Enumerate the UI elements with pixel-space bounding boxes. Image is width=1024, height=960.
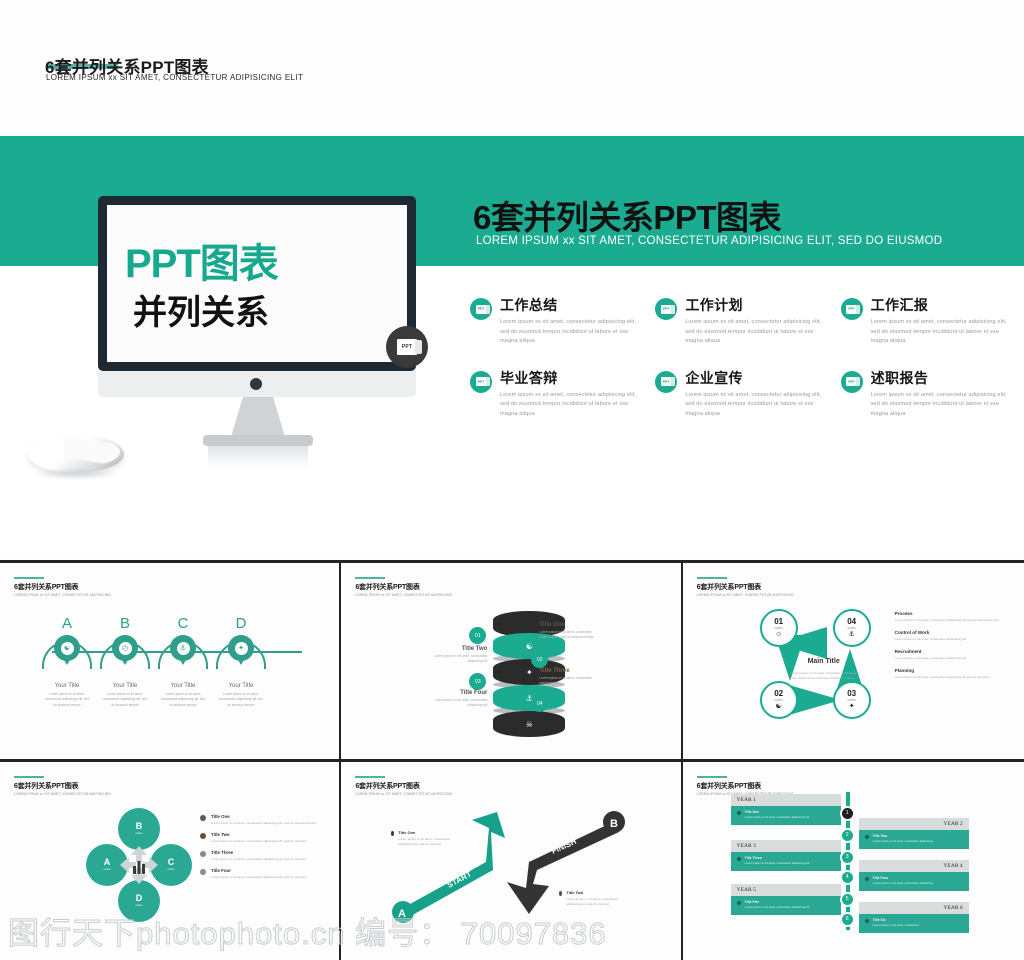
list-item: Title Four Lorem ipsum xx sit amet, cons… xyxy=(200,868,320,880)
slide-title: 6套并列关系PPT图表 xyxy=(697,781,761,791)
year-desc: Lorem ipsum xx sit amet, consectetur adi… xyxy=(745,815,810,819)
list-item-title: Title One xyxy=(211,814,316,819)
timeline-node-2: 2 xyxy=(840,828,855,843)
bullet-dot xyxy=(200,815,206,821)
pinwheel-node-03: 03 option ✦ xyxy=(833,681,871,719)
slide-thumb-1[interactable]: 6套并列关系PPT图表 LOREM IPSUM xx SIT AMET, CON… xyxy=(0,563,341,762)
note-desc: Lorem ipsum xx sit amet, consectetur adi… xyxy=(398,837,453,847)
list-item-desc: Lorem ipsum xx sit amet, consectetur adi… xyxy=(895,675,1000,680)
list-item-title: Recruitment xyxy=(895,649,1000,654)
bar-chart-icon xyxy=(114,840,164,890)
petal-label: value xyxy=(103,867,110,872)
bullet-dot xyxy=(737,901,741,905)
slide-title: 6套并列关系PPT图表 xyxy=(14,582,78,592)
note-title: Title Two xyxy=(566,890,621,895)
note-left: Title One Lorem ipsum xx sit amet, conse… xyxy=(391,830,453,847)
start-finish-arrow-graphic: A START B FINISH xyxy=(341,762,679,952)
year-card-4: YEAR 4 Title Four Lorem ipsum xx sit ame… xyxy=(859,860,969,891)
ppt-file-icon: PPT xyxy=(655,298,677,320)
slide-thumbnail-grid: 6套并列关系PPT图表 LOREM IPSUM xx SIT AMET, CON… xyxy=(0,560,1024,960)
pinwheel-node-01: 01 option ☺ xyxy=(760,609,798,647)
petal-letter: C xyxy=(168,857,175,867)
ppt-file-icon: PPT xyxy=(841,371,863,393)
feature-desc: Lorem ipsum xx sit amet, consectetur adi… xyxy=(685,318,826,347)
pin-letter: C xyxy=(155,615,211,633)
lightbulb-icon: ☯ xyxy=(54,635,80,661)
slide-thumb-5[interactable]: 6套并列关系PPT图表 LOREM IPSUM xx SIT AMET, CON… xyxy=(341,762,682,960)
lightbulb-icon: ☯ xyxy=(776,703,782,711)
bullet-dot xyxy=(559,891,562,896)
poster-page: 6套并列关系PPT图表 LOREM IPSUM xx SIT AMET, CON… xyxy=(0,0,1024,960)
year-desc: Lorem ipsum xx sit amet, consectetur adi… xyxy=(745,905,810,909)
feature-title: 工作计划 xyxy=(685,296,826,314)
list-item-title: Title Two xyxy=(211,832,306,837)
slide-subtitle: LOREM IPSUM xx SIT AMET, CONSECTETUR ADI… xyxy=(14,792,111,796)
list-item-desc: Lorem ipsum xx sit amet, consectetur adi… xyxy=(895,618,1000,623)
feature-item: PPT 毕业答辩 Lorem ipsum xx sit amet, consec… xyxy=(470,369,655,420)
list-item: Process Lorem ipsum xx sit amet, consect… xyxy=(895,611,1000,623)
year-title: Title Three xyxy=(745,856,810,860)
note-desc: Lorem ipsum xx sit amet, consectetur adi… xyxy=(566,897,621,907)
pin-caption: Your Title xyxy=(213,683,269,689)
slide-thumb-6[interactable]: 6套并列关系PPT图表 LOREM IPSUM xx SIT AMET, CON… xyxy=(683,762,1024,960)
main-title: Main Title xyxy=(808,658,840,665)
cylinder-desc: Lorem ipsum xx sit amet, consectetur adi… xyxy=(539,676,601,686)
anchor-icon: ⚓ xyxy=(170,635,196,661)
petal-label: value xyxy=(167,867,174,872)
users-icon: ☺ xyxy=(775,631,782,639)
timeline-node-5: 5 xyxy=(840,892,855,907)
timeline-node-6: 6 xyxy=(840,912,855,927)
bullet-dot xyxy=(865,919,869,923)
list-item-desc: Lorem ipsum xx sit amet, consectetur adi… xyxy=(895,656,1000,661)
monitor-mockup: PPT图表 并列关系 PPT xyxy=(98,196,416,391)
pinwheel-center-label: Main Title Lorem ipsum xx sit amet, cons… xyxy=(791,650,857,681)
list-item-title: Planning xyxy=(895,668,1000,673)
petal-label: value xyxy=(135,903,142,908)
bullet-dot xyxy=(737,857,741,861)
cylinder-label-3: Title Three Lorem ipsum xx sit amet, con… xyxy=(539,667,601,686)
year-card-2: YEAR 2 Title Two Lorem ipsum xx sit amet… xyxy=(859,818,969,849)
monitor-stand-base xyxy=(203,435,313,446)
pin-desc: Lorem ipsum xx sit amet, consectetur adi… xyxy=(213,692,269,708)
year-card-6: YEAR 6 Title Six Lorem ipsum xx sit amet… xyxy=(859,902,969,933)
monitor-indicator-dot xyxy=(250,378,262,390)
list-item-desc: Lorem ipsum xx sit amet, consectetur adi… xyxy=(895,637,1000,642)
feature-title: 工作总结 xyxy=(500,296,641,314)
anchor-icon: ⚓ xyxy=(849,631,855,639)
feature-grid: PPT 工作总结 Lorem ipsum xx sit amet, consec… xyxy=(470,296,1024,419)
list-item-desc: Lorem ipsum xx sit amet, consectetur adi… xyxy=(211,875,306,880)
bullet-dot xyxy=(391,831,394,836)
ppt-file-icon: PPT xyxy=(470,371,492,393)
gear-icon: ✦ xyxy=(228,635,254,661)
year-label: YEAR 3 xyxy=(731,840,841,852)
petal-letter: D xyxy=(136,893,143,903)
timeline-node-4: 4 xyxy=(840,870,855,885)
pin-desc: Lorem ipsum xx sit amet, consectetur adi… xyxy=(97,692,153,708)
feature-item: PPT 工作汇报 Lorem ipsum xx sit amet, consec… xyxy=(841,296,1024,347)
ppt-file-icon: PPT xyxy=(470,298,492,320)
slide-title: 6套并列关系PPT图表 xyxy=(697,582,761,592)
cylinder-number-badge: 03 xyxy=(469,673,486,690)
slide-accent-rule xyxy=(14,776,44,778)
monitor-screen: PPT图表 并列关系 xyxy=(107,205,407,362)
pin-item: C ⚓ Your Title Lorem ipsum xx sit amet, … xyxy=(155,615,211,708)
list-item-title: Control of Work xyxy=(895,630,1000,635)
list-item: Title One Lorem ipsum xx sit amet, conse… xyxy=(200,814,320,826)
list-item-desc: Lorem ipsum xx sit amet, consectetur adi… xyxy=(211,821,316,826)
list-item: Recruitment Lorem ipsum xx sit amet, con… xyxy=(895,649,1000,661)
note-right: Title Two Lorem ipsum xx sit amet, conse… xyxy=(559,890,621,907)
ppt-badge-icon: PPT xyxy=(386,326,428,368)
feature-desc: Lorem ipsum xx sit amet, consectetur adi… xyxy=(685,391,826,420)
pin-item: A ☯ Your Title Lorem ipsum xx sit amet, … xyxy=(39,615,95,708)
year-desc: Lorem ipsum xx sit amet, consectetur adi… xyxy=(873,839,933,843)
slide-accent-rule xyxy=(355,577,385,579)
ppt-file-icon: PPT xyxy=(841,298,863,320)
pin-desc: Lorem ipsum xx sit amet, consectetur adi… xyxy=(39,692,95,708)
pin-caption: Your Title xyxy=(97,683,153,689)
cylinder-title: Title Three xyxy=(539,669,601,674)
cylinder-desc: Lorem ipsum xx sit amet, consectetur adi… xyxy=(539,630,603,640)
list-item-desc: Lorem ipsum xx sit amet, consectetur adi… xyxy=(211,857,306,862)
slide-subtitle: LOREM IPSUM xx SIT AMET, CONSECTETUR ADI… xyxy=(14,593,111,597)
year-title: Title Six xyxy=(873,918,919,922)
list-item-title: Title Three xyxy=(211,850,306,855)
mouse-shadow xyxy=(30,468,122,480)
year-title: Title One xyxy=(745,810,810,814)
feature-title: 企业宣传 xyxy=(685,369,826,387)
timeline-node-1: 1 xyxy=(840,806,855,821)
list-item: Planning Lorem ipsum xx sit amet, consec… xyxy=(895,668,1000,680)
timeline-node-3: 3 xyxy=(840,850,855,865)
feature-desc: Lorem ipsum xx sit amet, consectetur adi… xyxy=(500,318,641,347)
year-label: YEAR 5 xyxy=(731,884,841,896)
page-subtitle: LOREM IPSUM xx SIT AMET, CONSECTETUR ADI… xyxy=(46,72,666,84)
cylinder-number-badge: 01 xyxy=(469,627,486,644)
list-item: Control of Work Lorem ipsum xx sit amet,… xyxy=(895,630,1000,642)
year-label: YEAR 6 xyxy=(859,902,969,914)
year-card-1: YEAR 1 Title One Lorem ipsum xx sit amet… xyxy=(731,794,841,825)
svg-text:A: A xyxy=(398,908,406,920)
pin-item: D ✦ Your Title Lorem ipsum xx sit amet, … xyxy=(213,615,269,708)
cylinder-desc: Lorem ipsum xx sit amet, consectetur adi… xyxy=(429,698,487,708)
cylinder-title: Title Four xyxy=(429,691,487,696)
bullet-dot xyxy=(200,851,206,857)
top-header: 6套并列关系PPT图表 LOREM IPSUM xx SIT AMET, CON… xyxy=(0,0,1024,136)
year-title: Title Four xyxy=(873,876,933,880)
slide-subtitle: LOREM IPSUM xx SIT AMET, CONSECTETUR ADI… xyxy=(355,593,452,597)
slide-title: 6套并列关系PPT图表 xyxy=(14,781,78,791)
cylinder-segment-3: ⚓ xyxy=(493,685,565,711)
monitor-stand-neck xyxy=(231,397,285,437)
feature-item: PPT 工作总结 Lorem ipsum xx sit amet, consec… xyxy=(470,296,655,347)
slide-thumb-2[interactable]: 6套并列关系PPT图表 LOREM IPSUM xx SIT AMET, CON… xyxy=(341,563,682,762)
hero-section: PPT图表 并列关系 PPT 6套并列关系PPT图表 LOREM IPSUM x… xyxy=(0,136,1024,554)
pin-letter: D xyxy=(213,615,269,633)
year-label: YEAR 2 xyxy=(859,818,969,830)
year-title: Title Five xyxy=(745,900,810,904)
bullet-dot xyxy=(865,835,869,839)
monitor-reflection xyxy=(208,446,308,468)
cylinder-desc: Lorem ipsum xx sit amet, consectetur adi… xyxy=(429,654,487,664)
year-desc: Lorem ipsum xx sit amet, consectetur adi… xyxy=(745,861,810,865)
lightbulb-icon: ☯ xyxy=(526,642,533,651)
diamond-icon: ✦ xyxy=(526,668,533,677)
feature-desc: Lorem ipsum xx sit amet, consectetur adi… xyxy=(500,391,641,420)
petal-letter: B xyxy=(136,821,143,831)
node-number: 03 xyxy=(847,690,856,698)
feature-item: PPT 述职报告 Lorem ipsum xx sit amet, consec… xyxy=(841,369,1024,420)
clock-icon: ◴ xyxy=(112,635,138,661)
hero-title: 6套并列关系PPT图表 xyxy=(473,191,1024,239)
node-number: 02 xyxy=(774,690,783,698)
mouse-mockup xyxy=(28,436,124,472)
pin-letter: B xyxy=(97,615,153,633)
pin-desc: Lorem ipsum xx sit amet, consectetur adi… xyxy=(155,692,211,708)
cylinder-label-2: Title Two Lorem ipsum xx sit amet, conse… xyxy=(429,645,487,664)
pin-item: B ◴ Your Title Lorem ipsum xx sit amet, … xyxy=(97,615,153,708)
list-item-desc: Lorem ipsum xx sit amet, consectetur adi… xyxy=(211,839,306,844)
year-desc: Lorem ipsum xx sit amet, consectetur xyxy=(873,923,919,927)
start-arrow-icon: A START xyxy=(392,812,505,923)
list-item-title: Title Four xyxy=(211,868,306,873)
petal-label: value xyxy=(135,831,142,836)
bullet-dot xyxy=(865,877,869,881)
bullet-dot xyxy=(200,869,206,875)
feature-item: PPT 企业宣传 Lorem ipsum xx sit amet, consec… xyxy=(655,369,840,420)
year-label: YEAR 1 xyxy=(731,794,841,806)
pin-caption: Your Title xyxy=(155,683,211,689)
node-number: 01 xyxy=(774,618,783,626)
year-desc: Lorem ipsum xx sit amet, consectetur adi… xyxy=(873,881,933,885)
pin-letter: A xyxy=(39,615,95,633)
slide-title: 6套并列关系PPT图表 xyxy=(355,582,419,592)
feature-title: 述职报告 xyxy=(871,369,1012,387)
slide-accent-rule xyxy=(697,577,727,579)
trophy-icon: ☠ xyxy=(526,720,533,729)
ppt-badge-label: PPT xyxy=(397,339,417,355)
list-item: Title Three Lorem ipsum xx sit amet, con… xyxy=(200,850,320,862)
slide-thumb-4[interactable]: 6套并列关系PPT图表 LOREM IPSUM xx SIT AMET, CON… xyxy=(0,762,341,960)
note-title: Title One xyxy=(398,830,453,835)
screen-title-line2: 并列关系 xyxy=(133,285,403,334)
pin-caption: Your Title xyxy=(39,683,95,689)
main-desc: Lorem ipsum xx sit amet, consectetur adi… xyxy=(791,671,857,681)
pinwheel-node-04: 04 option ⚓ xyxy=(833,609,871,647)
cylinder-label-4: Title Four Lorem ipsum xx sit amet, cons… xyxy=(429,689,487,708)
year-title: Title Two xyxy=(873,834,933,838)
year-label: YEAR 4 xyxy=(859,860,969,872)
feature-title: 毕业答辩 xyxy=(500,369,641,387)
bullet-dot xyxy=(737,811,741,815)
pinwheel-detail-list: Process Lorem ipsum xx sit amet, consect… xyxy=(895,611,1000,687)
petal-letter: A xyxy=(104,857,111,867)
feature-desc: Lorem ipsum xx sit amet, consectetur adi… xyxy=(871,391,1012,420)
slide-accent-rule xyxy=(697,776,727,778)
cylinder-title: Title Two xyxy=(429,647,487,652)
slide-thumb-3[interactable]: 6套并列关系PPT图表 LOREM IPSUM xx SIT AMET, CON… xyxy=(683,563,1024,762)
year-card-5: YEAR 5 Title Five Lorem ipsum xx sit ame… xyxy=(731,884,841,915)
monitor-bezel: PPT图表 并列关系 xyxy=(98,196,416,371)
feature-title: 工作汇报 xyxy=(871,296,1012,314)
feature-item: PPT 工作计划 Lorem ipsum xx sit amet, consec… xyxy=(655,296,840,347)
slide-subtitle: LOREM IPSUM xx SIT AMET, CONSECTETUR ADI… xyxy=(697,593,794,597)
hero-subtitle: LOREM IPSUM xx SIT AMET, CONSECTETUR ADI… xyxy=(476,235,1024,247)
node-number: 04 xyxy=(847,618,856,626)
petal-detail-list: Title One Lorem ipsum xx sit amet, conse… xyxy=(200,814,320,886)
cylinder-label-1: Title One Lorem ipsum xx sit amet, conse… xyxy=(539,621,603,640)
svg-text:B: B xyxy=(610,818,618,830)
slide-accent-rule xyxy=(14,577,44,579)
screen-title-line1: PPT图表 xyxy=(125,231,395,289)
cylinder-segment-4: ☠ xyxy=(493,711,565,737)
list-item-title: Process xyxy=(895,611,1000,616)
bullet-dot xyxy=(200,833,206,839)
year-card-3: YEAR 3 Title Three Lorem ipsum xx sit am… xyxy=(731,840,841,871)
feature-desc: Lorem ipsum xx sit amet, consectetur adi… xyxy=(871,318,1012,347)
cylinder-title: Title One xyxy=(539,623,603,628)
list-item: Title Two Lorem ipsum xx sit amet, conse… xyxy=(200,832,320,844)
ppt-file-icon: PPT xyxy=(655,371,677,393)
diamond-icon: ✦ xyxy=(849,703,855,711)
pinwheel-node-02: 02 option ☯ xyxy=(760,681,798,719)
